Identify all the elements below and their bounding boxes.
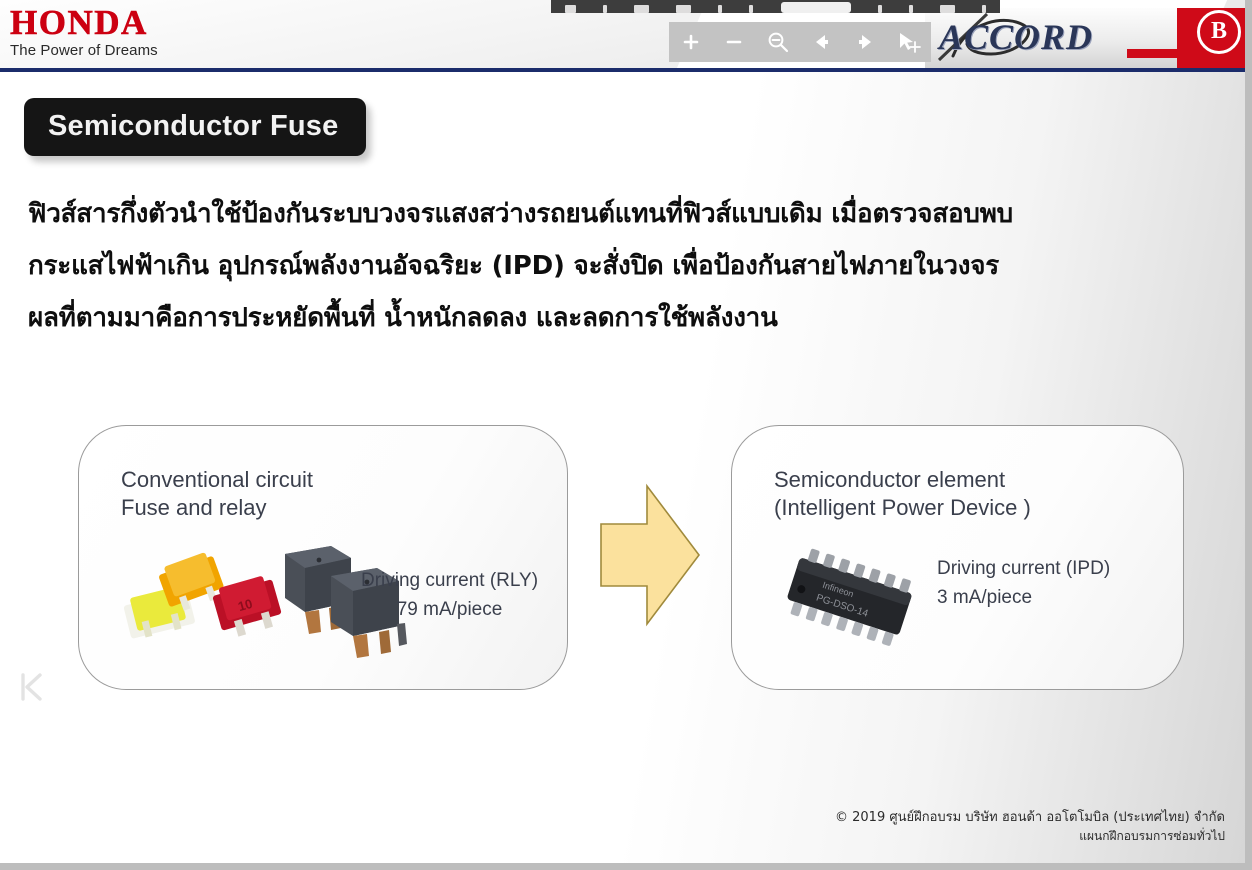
honda-logo: HONDA The Power of Dreams [10,6,158,60]
screen: HONDA The Power of Dreams ACCORD B Semic… [0,0,1252,870]
right-panel-title-line2: (Intelligent Power Device ) [774,494,1031,522]
semiconductor-element-panel: Semiconductor element (Intelligent Power… [731,425,1184,690]
right-panel-title-line1: Semiconductor element [774,466,1031,494]
minus-icon [725,33,743,51]
page-title: Semiconductor Fuse [48,110,338,142]
left-panel-metric: Driving current (RLY) 79 mA/piece [361,566,538,624]
pan-tool-button[interactable] [894,27,924,57]
toolbar-icon-8[interactable] [909,5,913,13]
right-panel-title: Semiconductor element (Intelligent Power… [774,466,1031,522]
arrow-right-icon [855,33,875,51]
accord-red-bar [1127,49,1179,58]
toolbar-page-field[interactable] [781,2,851,13]
left-metric-line1: Driving current (RLY) [361,566,538,595]
right-metric-line1: Driving current (IPD) [937,554,1110,583]
arrow-left-icon [812,33,832,51]
left-panel-title-line2: Fuse and relay [121,494,313,522]
footer-line-2: แผนกฝึกอบรมการซ่อมทั่วไป [835,827,1225,845]
ipd-chip-photo: Infineon PG-DSO-14 [772,544,922,659]
zoom-in-button[interactable] [676,27,706,57]
left-metric-line2: 79 mA/piece [361,595,538,624]
cursor-move-icon [897,31,921,53]
transition-arrow-icon [595,480,705,630]
toolbar-icon-3[interactable] [634,5,649,13]
toolbar-icon-10[interactable] [982,5,986,13]
first-slide-button[interactable] [18,672,44,702]
viewer-toolbar[interactable] [669,22,931,62]
application-toolbar[interactable] [551,0,1000,13]
toolbar-icon-9[interactable] [940,5,955,13]
comparison-diagram: Conventional circuit Fuse and relay [0,415,1245,715]
toolbar-icon-2[interactable] [603,5,607,13]
b-badge-icon: B [1197,10,1241,54]
left-panel-title: Conventional circuit Fuse and relay [121,466,313,522]
previous-slide-button[interactable] [10,418,44,472]
slide-body-text: ฟิวส์สารกึ่งตัวนำใช้ป้องกันระบบวงจรแสงสว… [28,188,1138,344]
body-line-3: ผลที่ตามมาคือการประหยัดพื้นที่ น้ำหนักลด… [28,292,1138,344]
toolbar-icon-5[interactable] [718,5,722,13]
slide-title-badge: Semiconductor Fuse [24,98,366,156]
body-line-2: กระแสไฟฟ้าเกิน อุปกรณ์พลังงานอัจฉริยะ (I… [28,240,1138,292]
slide-canvas: HONDA The Power of Dreams ACCORD B Semic… [0,0,1252,870]
body-line-1: ฟิวส์สารกึ่งตัวนำใช้ป้องกันระบบวงจรแสงสว… [28,188,1138,240]
next-page-button[interactable] [850,27,880,57]
honda-tagline: The Power of Dreams [10,42,158,60]
zoom-out-button[interactable] [719,27,749,57]
toolbar-icon-4[interactable] [676,5,691,13]
magnifier-minus-icon [766,30,790,54]
toolbar-icon-1[interactable] [565,5,576,13]
accord-wordmark: ACCORD [939,16,1093,58]
left-panel-title-line1: Conventional circuit [121,466,313,494]
footer-copyright: © 2019 ศูนย์ฝึกอบรม บริษัท ฮอนด้า ออโตโม… [835,809,1225,845]
toolbar-icon-7[interactable] [878,5,882,13]
magnifier-button[interactable] [763,27,793,57]
accord-logo: ACCORD B [925,8,1245,68]
right-panel-metric: Driving current (IPD) 3 mA/piece [937,554,1110,612]
footer-line-1: © 2019 ศูนย์ฝึกอบรม บริษัท ฮอนด้า ออโตโม… [835,809,1225,827]
toolbar-icon-6[interactable] [749,5,753,13]
conventional-circuit-panel: Conventional circuit Fuse and relay [78,425,568,690]
honda-wordmark: HONDA [10,6,158,40]
previous-page-button[interactable] [807,27,837,57]
right-metric-line2: 3 mA/piece [937,583,1110,612]
plus-icon [682,33,700,51]
